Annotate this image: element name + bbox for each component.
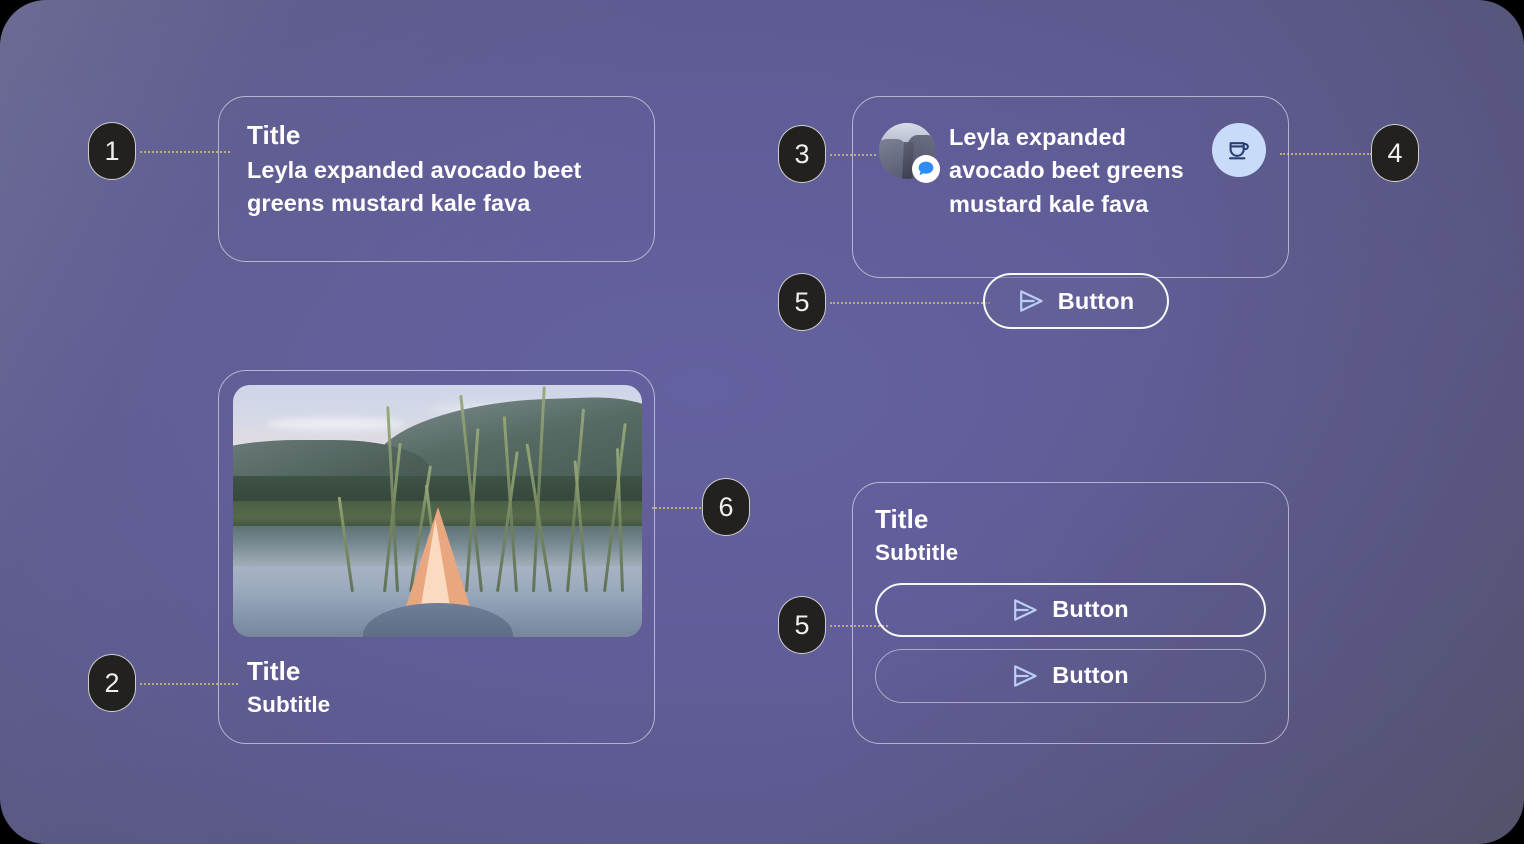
marker-label: 3 (794, 139, 809, 170)
avatar-message-card[interactable]: Leyla expanded avocado beet greens musta… (852, 96, 1289, 278)
card-body-text: Leyla expanded avocado beet greens musta… (247, 154, 626, 221)
annotated-component-canvas: Title Leyla expanded avocado beet greens… (0, 0, 1524, 844)
card-title: Title (247, 657, 626, 686)
kayak-lake-photo[interactable] (233, 385, 642, 637)
coffee-cup-icon[interactable] (1212, 123, 1266, 177)
send-button-label: Button (1052, 662, 1129, 689)
send-button-secondary[interactable]: Button (875, 649, 1266, 703)
basic-text-card[interactable]: Title Leyla expanded avocado beet greens… (218, 96, 655, 262)
send-button-primary[interactable]: Button (875, 583, 1266, 637)
leader-line-1 (140, 151, 230, 153)
leader-line-5a (830, 302, 990, 304)
send-icon (1018, 289, 1045, 313)
marker-label: 1 (104, 136, 119, 167)
chat-bubble-icon (912, 155, 940, 183)
annotation-marker-5a: 5 (778, 273, 826, 331)
marker-label: 6 (718, 492, 733, 523)
card-title: Title (247, 121, 626, 150)
card-title: Title (875, 505, 1266, 534)
annotation-marker-4: 4 (1371, 124, 1419, 182)
marker-label: 2 (104, 668, 119, 699)
send-button-floating[interactable]: Button (983, 273, 1169, 329)
send-button-label: Button (1052, 596, 1129, 623)
marker-label: 4 (1387, 138, 1402, 169)
annotation-marker-2: 2 (88, 654, 136, 712)
annotation-marker-3: 3 (778, 125, 826, 183)
actions-card[interactable]: Title Subtitle Button Button (852, 482, 1289, 744)
card-body-text: Leyla expanded avocado beet greens musta… (949, 121, 1199, 221)
marker-label: 5 (794, 610, 809, 641)
leader-line-6 (652, 507, 704, 509)
marker-label: 5 (794, 287, 809, 318)
send-button-label: Button (1058, 288, 1135, 315)
annotation-marker-5b: 5 (778, 596, 826, 654)
annotation-marker-1: 1 (88, 122, 136, 180)
card-subtitle: Subtitle (247, 692, 626, 719)
kayak-shape (358, 507, 518, 637)
media-card[interactable]: Title Subtitle (218, 370, 655, 744)
send-icon (1012, 664, 1039, 688)
annotation-marker-6: 6 (702, 478, 750, 536)
leader-line-4 (1280, 153, 1372, 155)
avatar[interactable] (879, 123, 935, 179)
card-subtitle: Subtitle (875, 540, 1266, 567)
send-icon (1012, 598, 1039, 622)
